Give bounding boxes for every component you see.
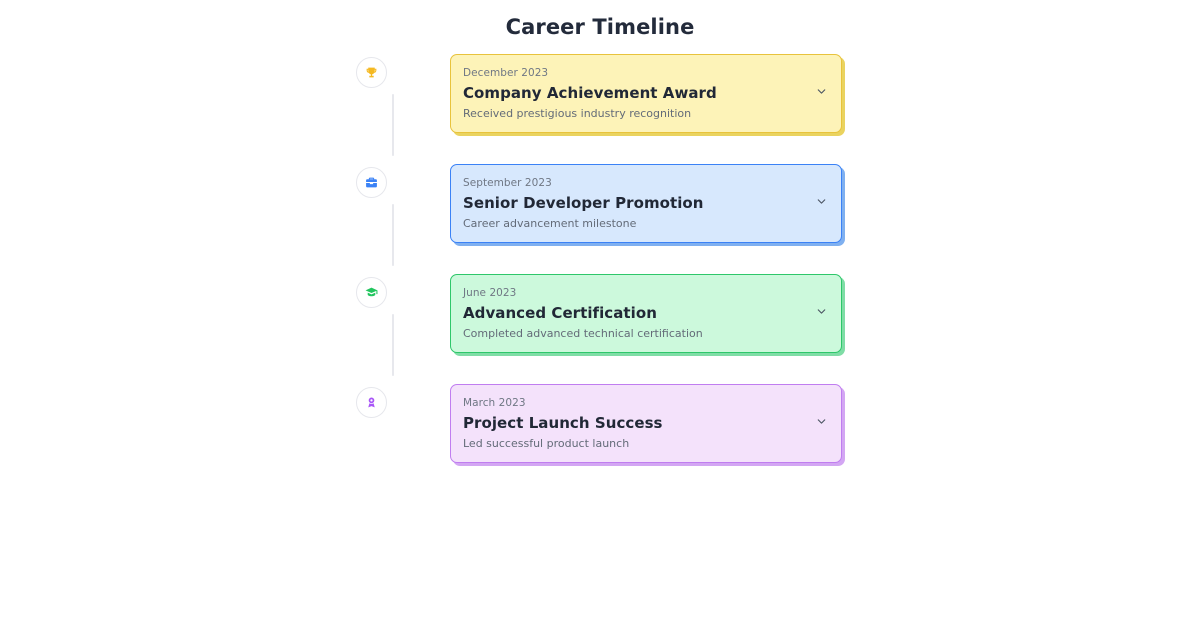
event-description: Career advancement milestone [463, 217, 826, 231]
timeline-event-card[interactable]: September 2023Senior Developer Promotion… [450, 164, 842, 243]
timeline-marker[interactable] [356, 167, 387, 198]
timeline-event-card[interactable]: June 2023Advanced CertificationCompleted… [450, 274, 842, 353]
event-title: Advanced Certification [463, 304, 826, 323]
timeline-rail [356, 164, 402, 274]
timeline-event: March 2023Project Launch SuccessLed succ… [356, 384, 846, 494]
award-medal-icon [365, 396, 378, 409]
timeline-list: December 2023Company Achievement AwardRe… [356, 54, 846, 494]
timeline-event-card[interactable]: December 2023Company Achievement AwardRe… [450, 54, 842, 133]
trophy-icon [365, 66, 378, 79]
event-date: March 2023 [463, 397, 826, 410]
timeline-event: December 2023Company Achievement AwardRe… [356, 54, 846, 164]
event-title: Senior Developer Promotion [463, 194, 826, 213]
timeline-rail [356, 274, 402, 384]
timeline-marker[interactable] [356, 57, 387, 88]
graduation-cap-icon [365, 286, 378, 299]
timeline-rail [356, 384, 402, 494]
chevron-down-icon[interactable] [812, 302, 830, 320]
chevron-down-icon[interactable] [812, 82, 830, 100]
timeline-event: June 2023Advanced CertificationCompleted… [356, 274, 846, 384]
timeline-event-card[interactable]: March 2023Project Launch SuccessLed succ… [450, 384, 842, 463]
briefcase-icon [365, 176, 378, 189]
page-title: Career Timeline [0, 15, 1200, 39]
timeline-marker[interactable] [356, 387, 387, 418]
event-description: Led successful product launch [463, 437, 826, 451]
timeline-marker[interactable] [356, 277, 387, 308]
timeline-event: September 2023Senior Developer Promotion… [356, 164, 846, 274]
timeline-connector-line [392, 314, 394, 376]
chevron-down-icon[interactable] [812, 192, 830, 210]
timeline-connector-line [392, 204, 394, 266]
career-timeline-page: Career Timeline December 2023Company Ach… [0, 0, 1200, 630]
event-description: Received prestigious industry recognitio… [463, 107, 826, 121]
event-title: Project Launch Success [463, 414, 826, 433]
timeline-connector-line [392, 94, 394, 156]
event-description: Completed advanced technical certificati… [463, 327, 826, 341]
timeline-rail [356, 54, 402, 164]
event-date: September 2023 [463, 177, 826, 190]
event-date: December 2023 [463, 67, 826, 80]
event-date: June 2023 [463, 287, 826, 300]
chevron-down-icon[interactable] [812, 412, 830, 430]
event-title: Company Achievement Award [463, 84, 826, 103]
